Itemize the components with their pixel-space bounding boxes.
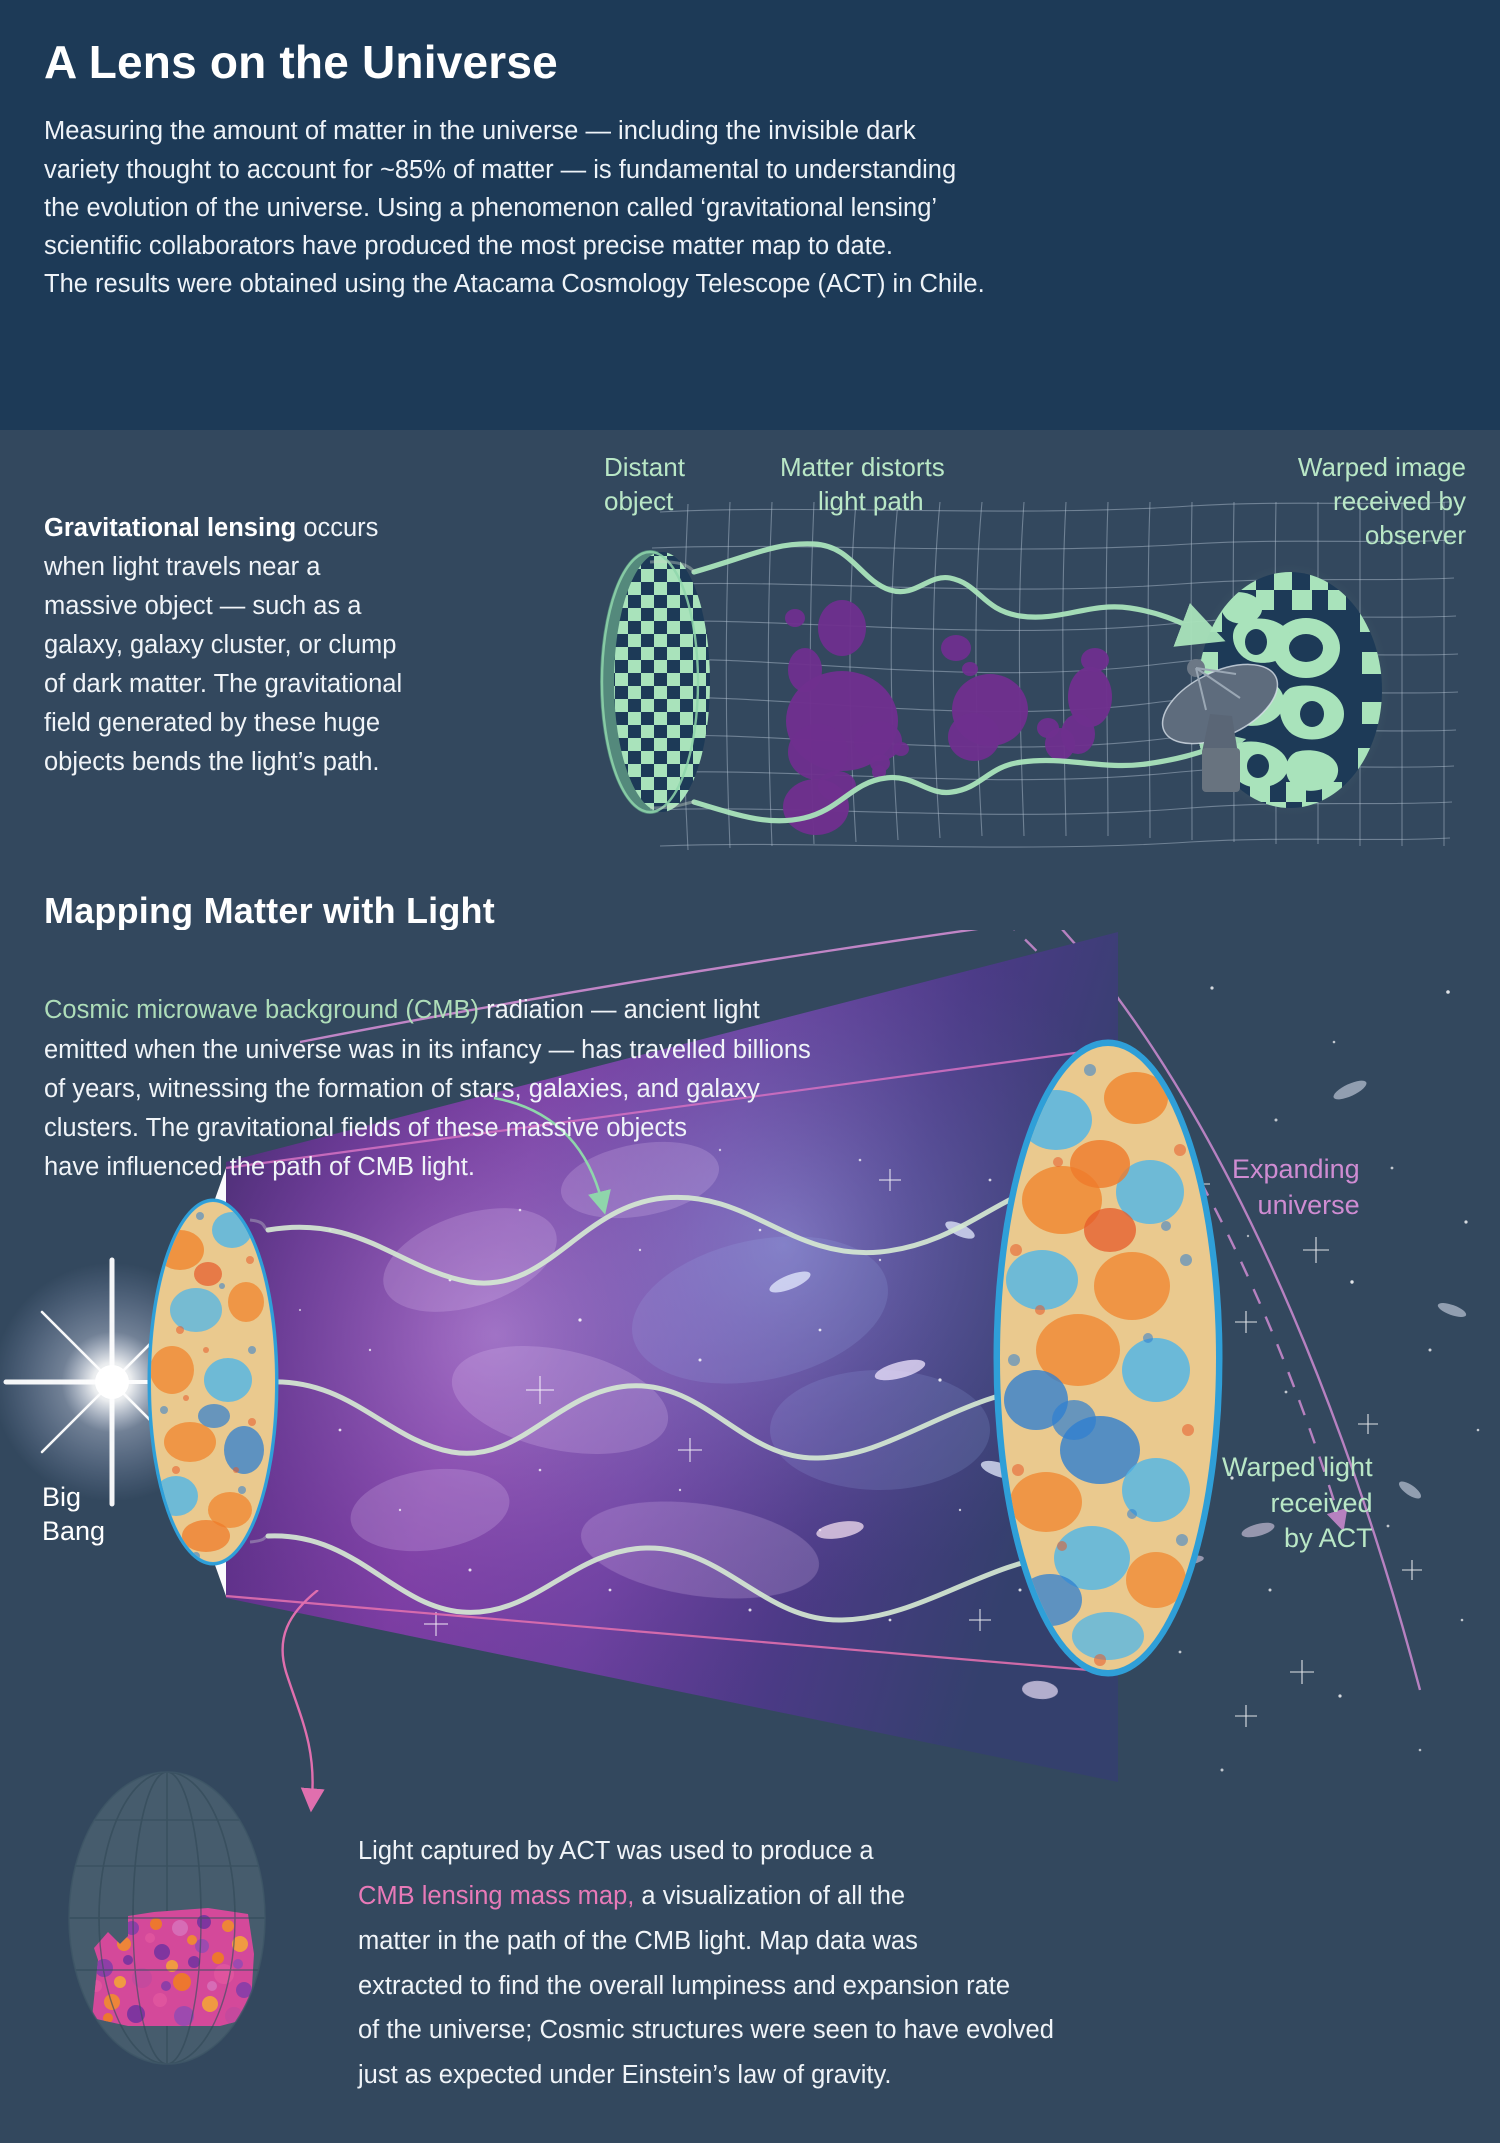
label-big-bang: Big Bang — [42, 1480, 105, 1549]
label-distant-object-line1: Distant — [604, 452, 686, 482]
label-expanding-universe: Expanding universe — [1232, 1152, 1360, 1223]
distant-object-disc — [590, 542, 762, 832]
cmb-early-disc — [149, 1200, 279, 1566]
infographic-page: A Lens on the Universe Measuring the amo… — [0, 0, 1500, 2143]
gravitational-lensing-diagram: Distant object Matter distorts light pat… — [590, 452, 1470, 872]
page-title: A Lens on the Universe — [44, 38, 1456, 86]
label-distant-object-line2: object — [604, 486, 674, 516]
gravitational-lensing-paragraph: Gravitational lensing occurs when light … — [44, 470, 564, 782]
label-warped-image-line3: observer — [1365, 520, 1466, 550]
mapping-matter-heading: Mapping Matter with Light — [44, 890, 495, 932]
label-matter-distorts-line1: Matter distorts — [780, 452, 945, 482]
header-lede-paragraph: Measuring the amount of matter in the un… — [44, 112, 1424, 303]
label-warped-image-line1: Warped image — [1298, 452, 1466, 482]
label-warped-image-line2: received by — [1333, 486, 1466, 516]
label-matter-distorts-line2: light path — [818, 486, 924, 516]
bottom-text-pre: Light captured by ACT was used to produc… — [358, 1837, 874, 1865]
lensing-svg: Distant object Matter distorts light pat… — [590, 452, 1470, 872]
mapping-matter-paragraph: Cosmic microwave background (CMB) radiat… — [44, 952, 1044, 1188]
gravitational-lensing-lead: Gravitational lensing — [44, 514, 296, 542]
bottom-text-post: a visualization of all the matter in the… — [358, 1882, 1054, 2090]
cmb-highlight: Cosmic microwave background (CMB) — [44, 996, 479, 1024]
gravitational-lensing-body: occurs when light travels near a massive… — [44, 514, 402, 776]
label-warped-light-act: Warped light received by ACT — [1222, 1450, 1373, 1557]
cmb-lensing-mass-map-highlight: CMB lensing mass map, — [358, 1882, 634, 1910]
bottom-callout-paragraph: Light captured by ACT was used to produc… — [358, 1784, 1418, 2098]
header-band: A Lens on the Universe Measuring the amo… — [0, 0, 1500, 430]
